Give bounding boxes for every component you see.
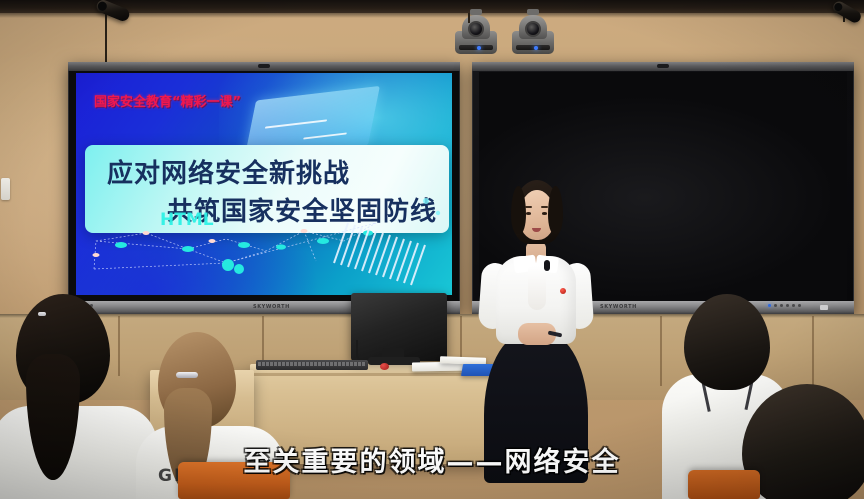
monitor-cable bbox=[356, 340, 372, 362]
teacher-eye-right bbox=[542, 212, 547, 215]
ceiling-beam-shadow bbox=[0, 13, 864, 18]
board-brand-label: SKYWORTH bbox=[253, 304, 290, 310]
ceiling-beam bbox=[0, 0, 864, 13]
blackboard-brand-label: SKYWORTH bbox=[600, 304, 637, 310]
student-head bbox=[684, 294, 770, 390]
svg-text:HTML: HTML bbox=[160, 210, 214, 230]
student-hair-tie bbox=[176, 372, 198, 378]
teacher-hair-right-strand bbox=[548, 186, 563, 234]
desk-mouse[interactable] bbox=[380, 363, 389, 370]
blackboard-camera-icon bbox=[657, 64, 669, 68]
classroom-video-frame: 国家安全教育“精彩一课” 应对网络安全新挑战 共筑国家安全坚固防线 bbox=[0, 0, 864, 499]
ptz-camera-right bbox=[512, 13, 554, 57]
teacher-eye-left bbox=[526, 212, 531, 215]
camera-lens-icon bbox=[525, 21, 541, 37]
camera-cable bbox=[468, 13, 470, 23]
teacher-neck-bow bbox=[528, 266, 546, 310]
smart-interactive-whiteboard[interactable]: 国家安全教育“精彩一课” 应对网络安全新挑战 共筑国家安全坚固防线 bbox=[68, 62, 460, 314]
student-hair-tie bbox=[38, 312, 46, 316]
slide-network-graphic: HTML bbox=[76, 73, 452, 295]
teacher-brow-right bbox=[541, 206, 548, 208]
board-camera-icon bbox=[258, 64, 270, 68]
board-top-bezel bbox=[68, 62, 460, 71]
camera-lens-icon bbox=[468, 21, 484, 37]
camera-status-led bbox=[477, 46, 481, 50]
presentation-slide: 国家安全教育“精彩一课” 应对网络安全新挑战 共筑国家安全坚固防线 bbox=[76, 73, 452, 295]
wall-control-panel[interactable] bbox=[1, 178, 10, 200]
blackboard-top-bezel bbox=[472, 62, 854, 71]
teacher-lapel-badge bbox=[560, 288, 566, 294]
ptz-camera-left bbox=[455, 13, 497, 57]
camera-ir-strip bbox=[459, 45, 493, 50]
cabinet-seam bbox=[812, 316, 814, 386]
camera-ir-strip bbox=[516, 45, 550, 50]
blackboard-power-button[interactable] bbox=[820, 305, 828, 310]
teacher-lapel-microphone bbox=[544, 260, 550, 271]
teacher-brow-left bbox=[525, 206, 532, 208]
camera-status-led bbox=[534, 46, 538, 50]
video-subtitle: 至关重要的领域——网络安全 bbox=[0, 440, 864, 479]
